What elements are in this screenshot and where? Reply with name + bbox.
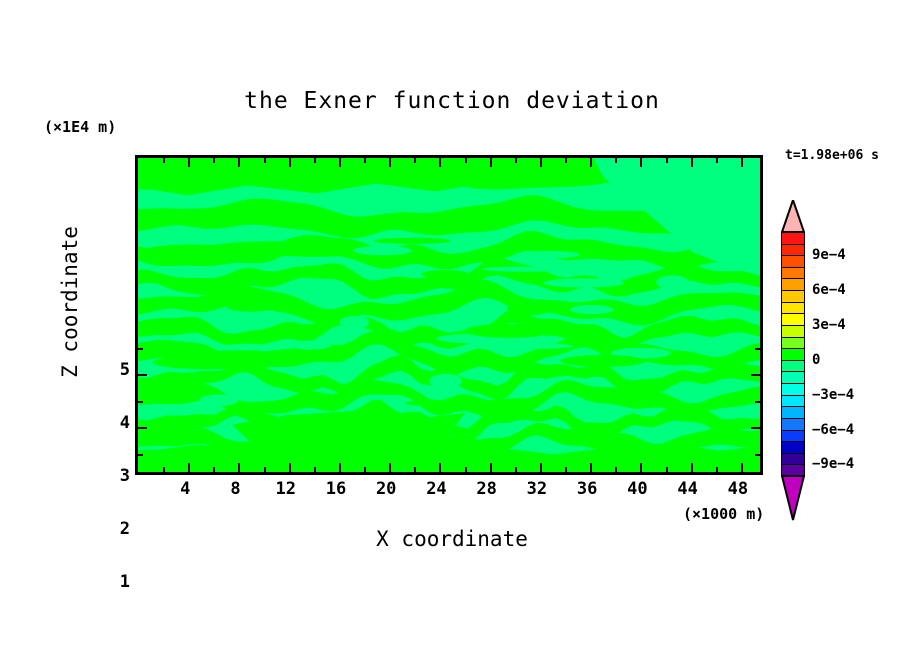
contour-band xyxy=(482,267,562,272)
contour-band xyxy=(405,400,488,406)
x-axis-minor-tick xyxy=(666,467,668,472)
x-axis-tick xyxy=(188,463,190,472)
y-axis-minor-tick xyxy=(138,401,143,403)
contour-band xyxy=(429,374,462,389)
contour-band xyxy=(561,355,646,367)
contour-band xyxy=(517,251,580,258)
y-axis-minor-tick xyxy=(755,454,760,456)
y-axis-tick-label: 1 xyxy=(100,572,130,592)
contour-band xyxy=(192,350,286,362)
colorbar-tick-label: 6e−4 xyxy=(812,282,846,298)
y-axis-tick xyxy=(138,374,147,376)
x-axis-title: X coordinate xyxy=(232,527,672,551)
x-axis-tick xyxy=(439,463,441,472)
y-axis-tick-label: 4 xyxy=(100,413,130,433)
x-axis-minor-tick xyxy=(666,158,668,163)
x-axis-tick xyxy=(741,463,743,472)
colorbar-bottom-cap xyxy=(782,476,804,520)
y-axis-minor-tick xyxy=(755,401,760,403)
x-axis-tick xyxy=(339,158,341,167)
colorbar-tick-label: 3e−4 xyxy=(812,317,846,333)
contour-band xyxy=(225,241,332,247)
contour-band xyxy=(465,324,553,338)
contour-band xyxy=(290,341,332,350)
x-axis-minor-tick xyxy=(364,467,366,472)
x-axis-tick xyxy=(389,463,391,472)
x-axis-minor-tick xyxy=(615,467,617,472)
page-title: the Exner function deviation xyxy=(0,88,904,114)
colorbar xyxy=(781,232,805,476)
x-axis-minor-tick xyxy=(615,158,617,163)
x-axis-tick xyxy=(188,158,190,167)
contour-band xyxy=(147,245,238,255)
x-axis-minor-tick xyxy=(565,467,567,472)
x-axis-tick xyxy=(640,463,642,472)
x-axis-minor-tick xyxy=(414,467,416,472)
x-axis-tick-label: 36 xyxy=(567,479,607,499)
x-axis-minor-tick xyxy=(465,467,467,472)
x-axis-minor-tick xyxy=(264,158,266,163)
contour-band xyxy=(374,238,451,244)
x-axis-tick xyxy=(741,158,743,167)
x-axis-minor-tick xyxy=(364,158,366,163)
x-axis-tick xyxy=(691,158,693,167)
x-axis-unit-label: (×1000 m) xyxy=(683,505,764,523)
x-axis-tick-label: 12 xyxy=(266,479,306,499)
colorbar-top-cap xyxy=(782,200,804,232)
x-axis-tick-label: 4 xyxy=(165,479,205,499)
contour-band xyxy=(607,391,656,399)
x-axis-minor-tick xyxy=(163,158,165,163)
x-axis-tick xyxy=(540,463,542,472)
x-axis-tick xyxy=(640,158,642,167)
contour-band xyxy=(199,394,238,406)
contour-band xyxy=(543,278,624,287)
contour-band xyxy=(227,303,274,312)
x-axis-tick xyxy=(439,158,441,167)
y-axis-tick-label: 5 xyxy=(100,360,130,380)
y-axis-minor-tick xyxy=(755,348,760,350)
colorbar-tick-label: −9e−4 xyxy=(812,456,854,472)
x-axis-tick-label: 24 xyxy=(416,479,456,499)
y-axis-title: Z coordinate xyxy=(58,212,82,392)
x-axis-tick xyxy=(490,158,492,167)
x-axis-minor-tick xyxy=(465,158,467,163)
x-axis-tick xyxy=(389,158,391,167)
x-axis-minor-tick xyxy=(716,467,718,472)
x-axis-tick xyxy=(289,158,291,167)
timestamp-label: t=1.98e+06 s xyxy=(785,148,879,163)
y-axis-tick-label: 2 xyxy=(100,519,130,539)
x-axis-minor-tick xyxy=(163,467,165,472)
y-axis-minor-tick xyxy=(138,454,143,456)
x-axis-tick xyxy=(238,158,240,167)
x-axis-minor-tick xyxy=(414,158,416,163)
y-axis-tick xyxy=(751,427,760,429)
contour-field xyxy=(138,158,760,472)
x-axis-minor-tick xyxy=(213,467,215,472)
x-axis-tick-label: 20 xyxy=(366,479,406,499)
x-axis-tick xyxy=(238,463,240,472)
x-axis-minor-tick xyxy=(515,467,517,472)
x-axis-tick-label: 40 xyxy=(617,479,657,499)
x-axis-minor-tick xyxy=(565,158,567,163)
x-axis-tick xyxy=(590,463,592,472)
colorbar-tick-label: 0 xyxy=(812,352,820,368)
colorbar-top-arrow xyxy=(781,200,805,233)
y-axis-tick xyxy=(138,427,147,429)
x-axis-tick xyxy=(490,463,492,472)
x-axis-tick-label: 28 xyxy=(467,479,507,499)
x-axis-minor-tick xyxy=(515,158,517,163)
contour-band xyxy=(656,275,688,289)
y-axis-tick-label: 3 xyxy=(100,466,130,486)
x-axis-tick-label: 16 xyxy=(316,479,356,499)
contour-band xyxy=(570,305,613,314)
x-axis-tick xyxy=(339,463,341,472)
x-axis-tick-label: 32 xyxy=(517,479,557,499)
x-axis-tick-label: 8 xyxy=(215,479,255,499)
x-axis-tick xyxy=(590,158,592,167)
x-axis-minor-tick xyxy=(314,467,316,472)
colorbar-tick-label: 9e−4 xyxy=(812,247,846,263)
contour-band xyxy=(340,316,369,329)
contour-band xyxy=(353,246,412,255)
x-axis-minor-tick xyxy=(716,158,718,163)
y-axis-unit-label: (×1E4 m) xyxy=(44,118,116,136)
x-axis-tick xyxy=(540,158,542,167)
x-axis-tick xyxy=(691,463,693,472)
y-axis-minor-tick xyxy=(138,348,143,350)
contour-band xyxy=(472,343,573,349)
x-axis-minor-tick xyxy=(213,158,215,163)
x-axis-minor-tick xyxy=(264,467,266,472)
contour-plot-area xyxy=(135,155,763,475)
colorbar-bottom-arrow xyxy=(781,475,805,521)
x-axis-minor-tick xyxy=(314,158,316,163)
contour-band xyxy=(421,270,468,278)
colorbar-tick-label: −3e−4 xyxy=(812,387,854,403)
colorbar-tick-label: −6e−4 xyxy=(812,422,854,438)
x-axis-tick-label: 48 xyxy=(718,479,758,499)
x-axis-tick xyxy=(289,463,291,472)
y-axis-tick xyxy=(751,374,760,376)
contour-band xyxy=(507,302,551,315)
x-axis-tick-label: 44 xyxy=(668,479,708,499)
